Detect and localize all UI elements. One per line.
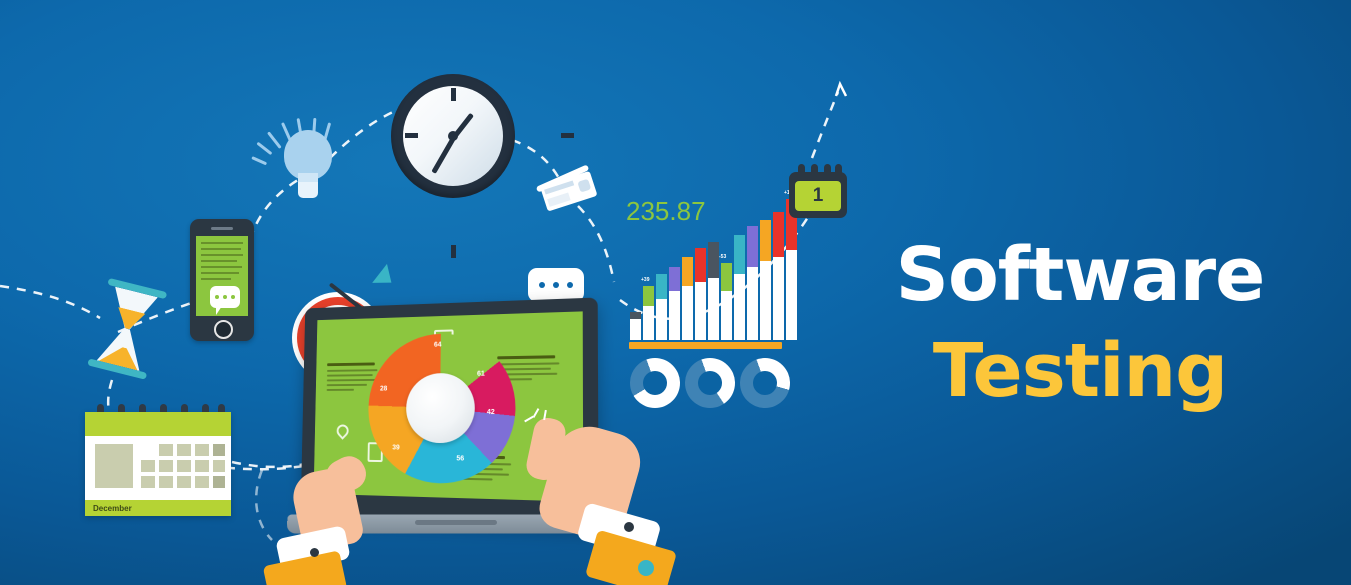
donut-hole [698, 371, 722, 395]
bar-7 [708, 242, 719, 340]
bar-white-segment [747, 267, 758, 340]
bar-white-segment [669, 291, 680, 340]
chart-baseline [629, 342, 782, 349]
lightbulb-icon [258, 118, 350, 214]
seg-label-2: 61 [477, 371, 485, 378]
bar-2 [643, 286, 654, 340]
calendar-badge-day: 1 [789, 181, 847, 211]
bar-11 [760, 220, 771, 340]
clock-icon [391, 74, 515, 198]
bar-1 [630, 312, 641, 340]
seg-label-4: 56 [456, 455, 464, 462]
page-title-line1: Software [880, 238, 1280, 312]
bar-white-segment [721, 291, 732, 340]
bar-white-segment [708, 278, 719, 340]
donut-1 [630, 358, 680, 408]
right-hand [512, 418, 692, 585]
location-pin-icon [334, 422, 351, 440]
donut-hole [643, 371, 667, 395]
bar-9 [734, 235, 745, 340]
phone-screen [196, 236, 248, 316]
ticket-icon [540, 171, 600, 219]
progress-donuts [630, 358, 790, 412]
bar-white-segment [630, 319, 641, 340]
chart-value-label: 235.87 [626, 196, 706, 227]
tap-lines-icon [524, 412, 550, 426]
calendar-month-label: December [93, 504, 132, 513]
bar-annotation: -53 [719, 254, 726, 260]
bar-white-segment [734, 274, 745, 340]
bar-white-segment [760, 261, 771, 340]
seg-label-1: 64 [434, 342, 442, 349]
left-hand [266, 470, 396, 585]
donut-hole [753, 371, 777, 395]
bar-white-segment [682, 286, 693, 340]
donut-2 [685, 358, 735, 408]
bar-white-segment [773, 257, 784, 340]
banner-title: Software Testing [880, 238, 1280, 408]
screen-donut-chart: 64 61 42 56 39 28 [367, 332, 515, 485]
bar-5 [682, 257, 693, 340]
bar-3 [656, 274, 667, 340]
bar-white-segment [786, 250, 797, 340]
smartphone-icon [190, 219, 254, 341]
accent-dot [638, 560, 654, 576]
seg-label-6: 28 [380, 386, 387, 393]
bar-annotation: +39 [641, 277, 649, 283]
bar-8 [721, 263, 732, 340]
bar-12 [773, 212, 784, 340]
hourglass-icon [73, 273, 184, 388]
desk-calendar-icon: December [85, 412, 231, 516]
seg-label-3: 42 [487, 409, 495, 416]
bar-6 [695, 248, 706, 340]
bar-white-segment [643, 306, 654, 340]
page-title-line2: Testing [880, 334, 1280, 408]
bar-white-segment [656, 299, 667, 340]
donut-3 [740, 358, 790, 408]
chat-bubble-icon [210, 286, 240, 308]
calendar-badge-icon: 1 [789, 164, 847, 222]
bar-4 [669, 267, 680, 340]
bar-10 [747, 226, 758, 340]
software-testing-banner: December [0, 0, 1351, 585]
seg-label-5: 39 [392, 444, 400, 451]
bar-white-segment [695, 282, 706, 340]
